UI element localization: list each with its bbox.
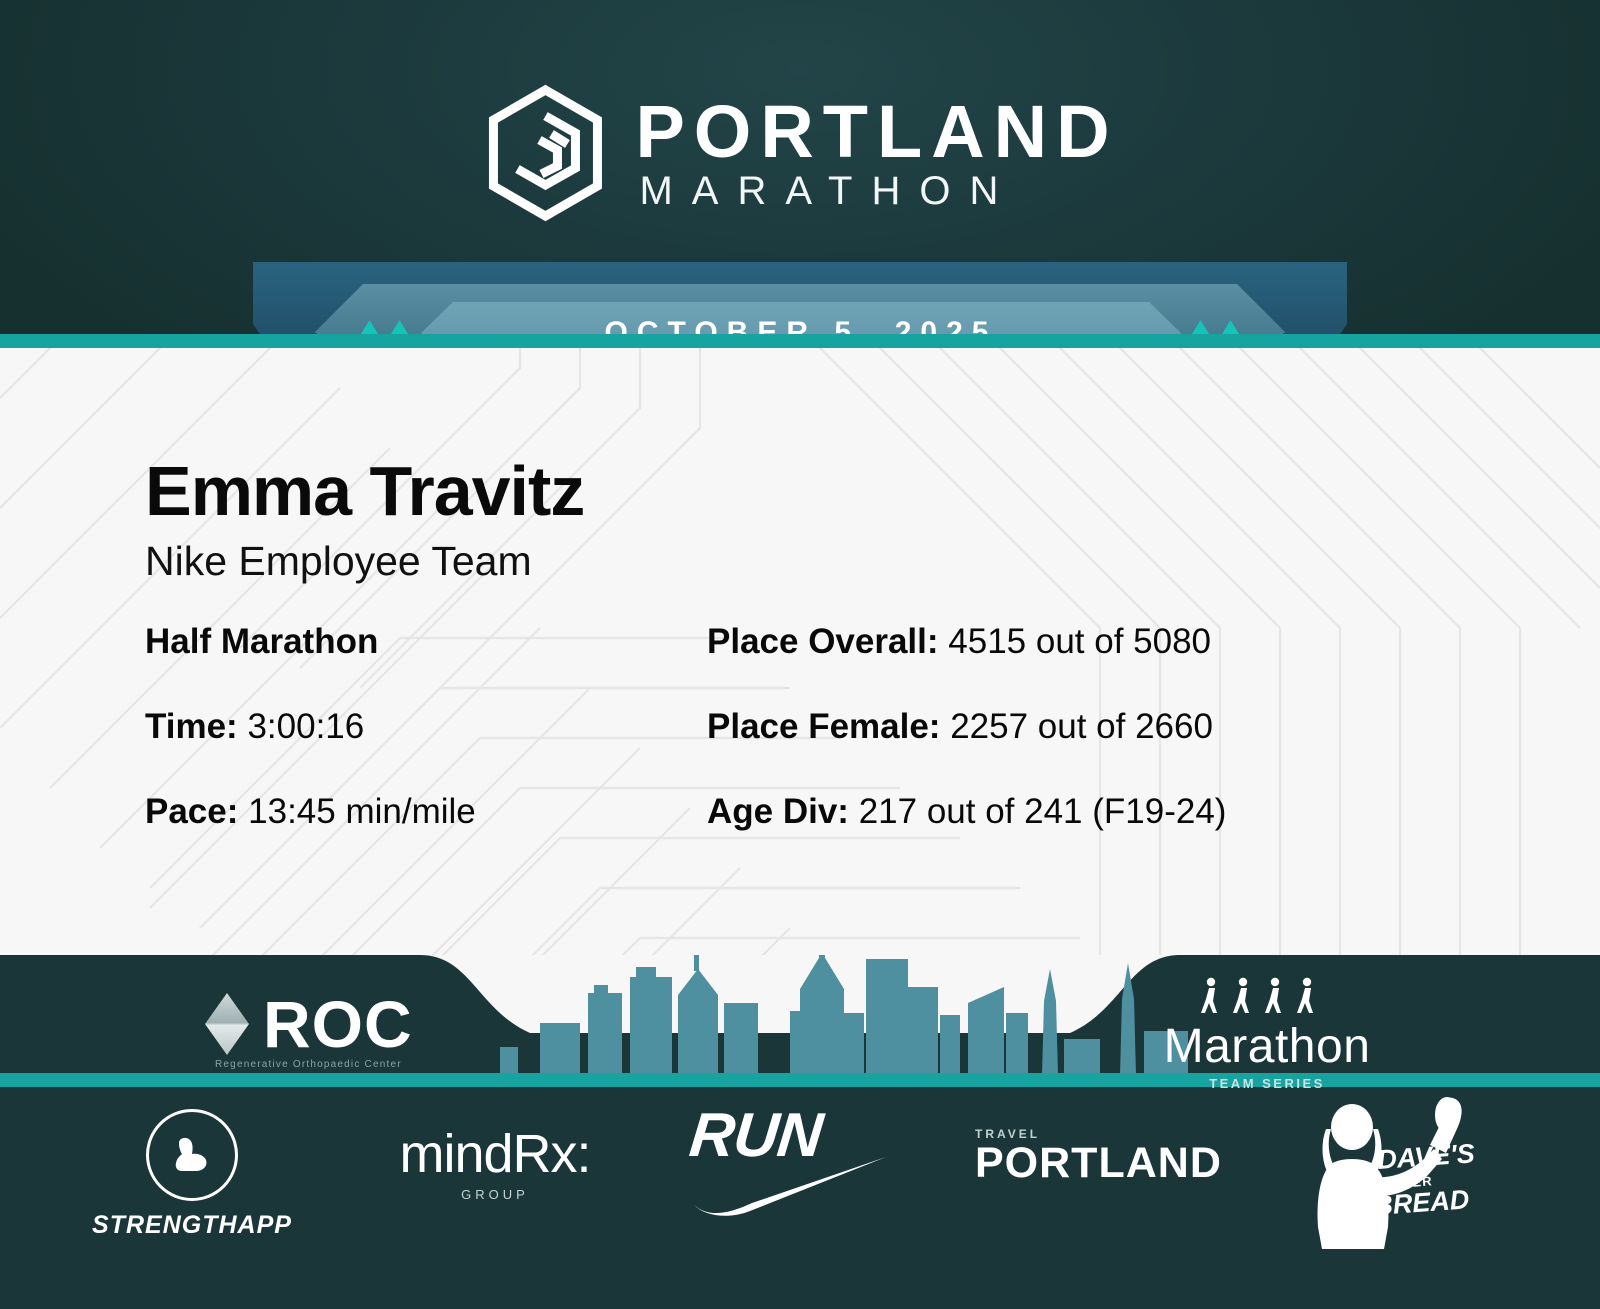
result-stats-grid: Half Marathon Place Overall: 4515 out of… [145,624,1465,830]
dkb-line3: BREAD [1372,1184,1470,1221]
event-title-secondary: MARATHON [635,171,1118,211]
stat-age-division: Age Div: 217 out of 241 (F19-24) [707,794,1465,831]
sponsor-row-secondary: STRENGTHAPP mindRx: GROUP RUN TRAVEL POR… [0,1095,1600,1235]
sponsor-nike-run[interactable]: RUN [690,1105,890,1217]
hexagon-spiral-icon [481,82,609,224]
sponsor-mindrx-sub: GROUP [380,1187,610,1202]
runner-team: Nike Employee Team [145,541,532,582]
event-title-primary: PORTLAND [635,95,1118,169]
sponsor-daves-killer-bread[interactable]: DAVE'S KILLER BREAD [1300,1091,1515,1251]
sponsor-strengthapp-name: STRENGTHAPP [92,1211,292,1240]
sponsor-mindrx[interactable]: mindRx: GROUP [380,1127,610,1202]
sponsor-roc[interactable]: ROC [205,991,413,1057]
sponsor-nike-run-name: RUN [687,1105,894,1167]
stat-pace: Pace: 13:45 min/mile [145,794,707,831]
stat-race-name: Half Marathon [145,624,707,661]
sponsor-marathon-team-series[interactable]: Marathon TEAM SERIES [1152,975,1382,1091]
diamond-icon [205,993,249,1055]
dkb-line1: DAVE'S [1376,1138,1475,1175]
sponsor-travel-portland[interactable]: TRAVEL PORTLAND [975,1127,1205,1186]
sponsor-mts-sub: TEAM SERIES [1152,1076,1382,1091]
sponsor-roc-tagline: Regenerative Orthopaedic Center [215,1059,402,1070]
runners-icon [1197,975,1337,1021]
sponsor-row-primary: ROC Regenerative Orthopaedic Center [0,963,1600,1083]
sponsor-travel-name: PORTLAND [975,1141,1205,1186]
flexed-bicep-icon [146,1109,238,1201]
runner-name: Emma Travitz [145,456,584,526]
result-body: Emma Travitz Nike Employee Team Half Mar… [0,348,1600,965]
event-logo-lockup: PORTLAND MARATHON [481,82,1118,224]
sponsor-mindrx-name: mindRx: [380,1127,610,1181]
certificate-header: PORTLAND MARATHON OCTOBER 5, 2025 [0,0,1600,348]
sponsor-roc-name: ROC [263,991,413,1057]
sponsor-footer: ROC Regenerative Orthopaedic Center [0,955,1600,1309]
stat-time: Time: 3:00:16 [145,709,707,746]
stat-place-overall: Place Overall: 4515 out of 5080 [707,624,1465,661]
stat-place-female: Place Female: 2257 out of 2660 [707,709,1465,746]
sponsor-mts-name: Marathon [1152,1023,1382,1071]
header-teal-divider [0,334,1600,348]
dave-character-icon: DAVE'S KILLER BREAD [1300,1091,1515,1251]
race-result-certificate: PORTLAND MARATHON OCTOBER 5, 2025 [0,0,1600,1309]
sponsor-strengthapp[interactable]: STRENGTHAPP [92,1109,292,1240]
